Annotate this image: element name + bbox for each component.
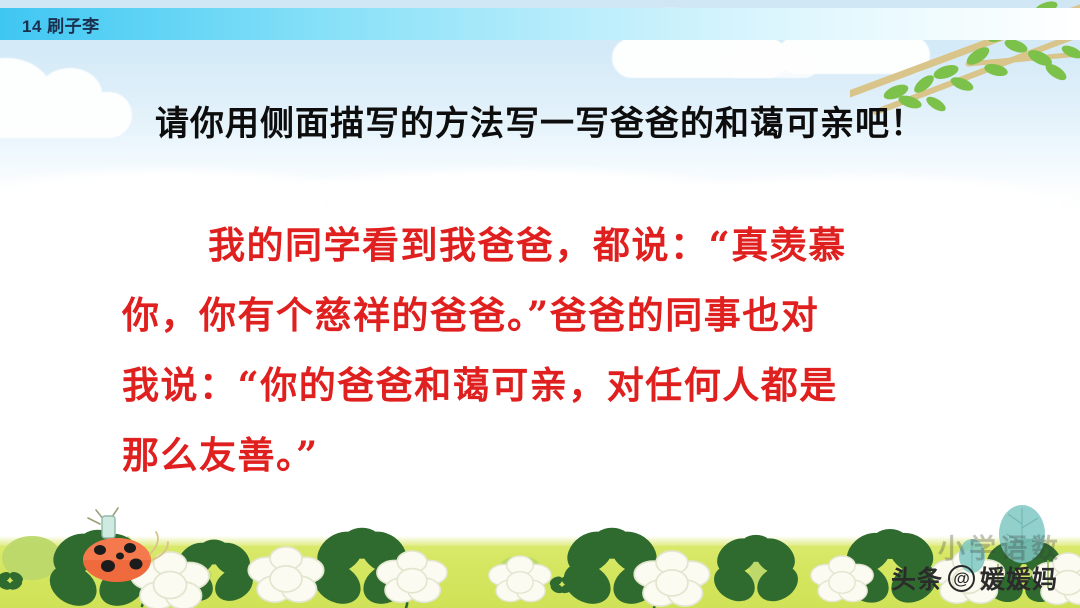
slide-title: 请你用侧面描写的方法写一写爸爸的和蔼可亲吧！ <box>0 96 1080 145</box>
lesson-title-label: 14 刷子李 <box>22 8 100 40</box>
watermark-username: 媛媛妈 <box>980 560 1058 596</box>
watermark-brand: 头条 <box>891 560 943 596</box>
paragraph-line: 我说：“你的爸爸和蔼可亲，对任何人都是 <box>122 350 962 420</box>
answer-paragraph: 我的同学看到我爸爸，都说：“真羡慕 你，你有个慈祥的爸爸。”爸爸的同事也对 我说… <box>122 210 962 490</box>
watermark-attribution: 头条 @ 媛媛妈 <box>891 560 1058 596</box>
grass-fade <box>0 536 1080 546</box>
at-icon: @ <box>948 565 975 592</box>
paragraph-line: 那么友善。” <box>122 420 962 490</box>
cloud-decoration <box>778 36 930 74</box>
paragraph-line: 我的同学看到我爸爸，都说：“真羡慕 <box>122 210 962 280</box>
lesson-header-bar <box>0 8 1080 40</box>
presentation-slide: 14 刷子李 请你用侧面描写的方法写一写爸爸的和蔼可亲吧！ 我的同学看到我爸爸，… <box>0 0 1080 608</box>
paragraph-line: 你，你有个慈祥的爸爸。”爸爸的同事也对 <box>122 280 962 350</box>
